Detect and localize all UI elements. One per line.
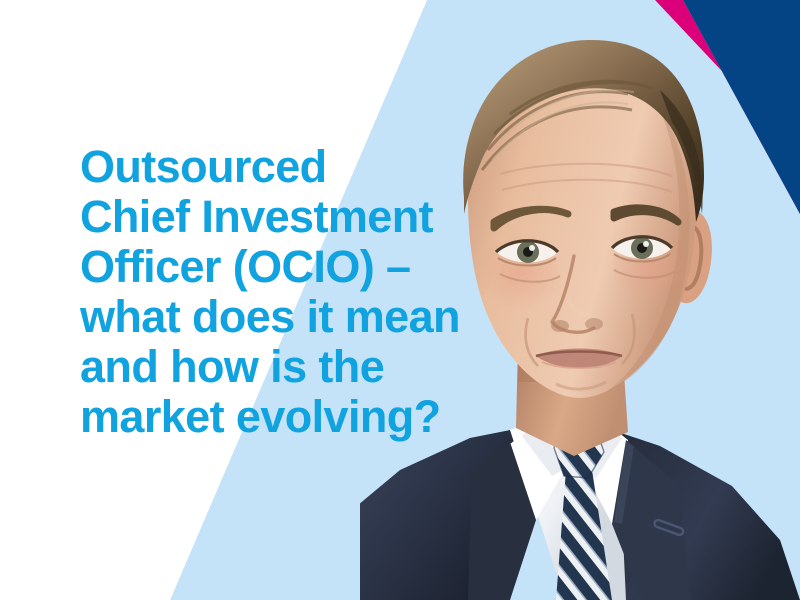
hero-banner: Outsourced Chief Investment Officer (OCI… <box>0 0 800 600</box>
eye-right <box>612 237 672 262</box>
portrait-photo <box>360 0 800 600</box>
eye-left <box>496 241 558 266</box>
